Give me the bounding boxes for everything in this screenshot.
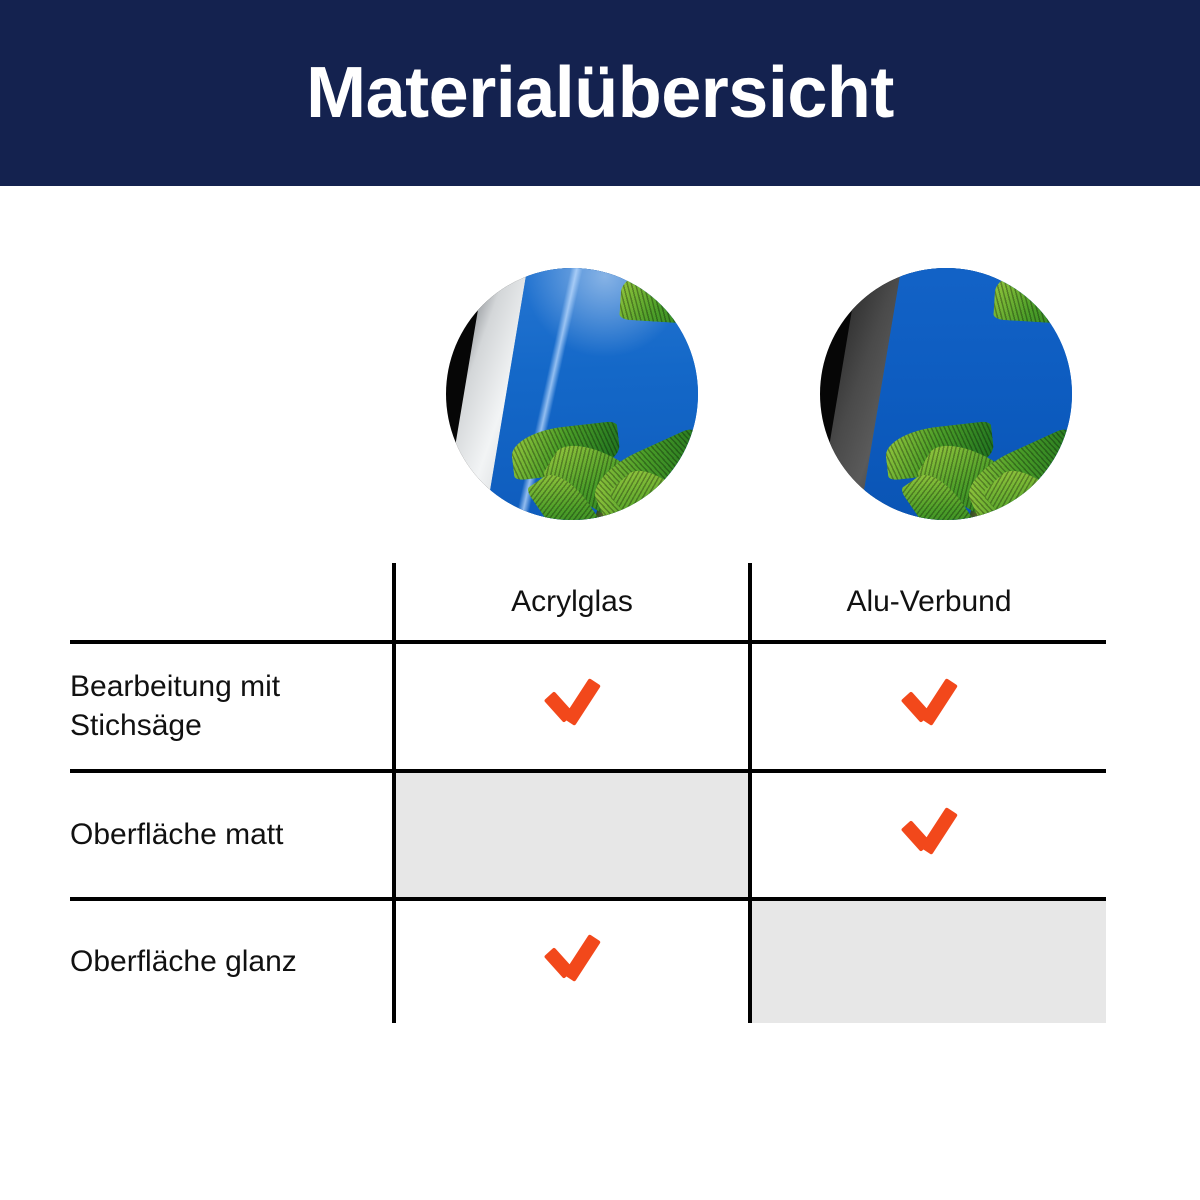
cell-matt-alu-verbund (750, 771, 1106, 899)
cell-bearbeitung-acrylglas (394, 642, 750, 771)
check-icon (901, 811, 957, 855)
acrylglas-product-image (446, 268, 698, 520)
column-header-acrylglas: Acrylglas (394, 563, 750, 642)
palm-frond-icon (619, 268, 698, 326)
row-label-oberflaeche-matt: Oberfläche matt (70, 771, 394, 899)
header-cell-blank (70, 563, 394, 642)
check-icon (901, 682, 957, 726)
cell-bearbeitung-alu-verbund (750, 642, 1106, 771)
material-comparison-table: Acrylglas Alu-Verbund Bearbeitung mit St… (70, 563, 1106, 1011)
row-label-line-1: Oberfläche matt (70, 816, 392, 854)
page-header: Materialübersicht (0, 0, 1200, 186)
thumbnail-row (0, 268, 1200, 524)
cell-glanz-acrylglas (394, 899, 750, 1023)
alu-verbund-product-image (820, 268, 1072, 520)
palm-frond-icon (993, 268, 1072, 326)
table-row: Oberfläche glanz (70, 899, 1106, 1023)
check-icon (544, 682, 600, 726)
row-label-line-2: Stichsäge (70, 707, 392, 745)
row-label-oberflaeche-glanz: Oberfläche glanz (70, 899, 394, 1023)
table-header-row: Acrylglas Alu-Verbund (70, 563, 1106, 642)
alu-verbund-thumbnail[interactable] (820, 268, 1072, 520)
table-row: Bearbeitung mit Stichsäge (70, 642, 1106, 771)
acrylglas-thumbnail[interactable] (446, 268, 698, 520)
row-label-line-1: Bearbeitung mit (70, 668, 392, 706)
no-check-placeholder (929, 965, 930, 966)
cell-glanz-alu-verbund (750, 899, 1106, 1023)
row-label-line-1: Oberfläche glanz (70, 943, 392, 981)
column-header-alu-verbund: Alu-Verbund (750, 563, 1106, 642)
page-title: Materialübersicht (306, 57, 894, 129)
table-row: Oberfläche matt (70, 771, 1106, 899)
row-label-bearbeitung-stichsaege: Bearbeitung mit Stichsäge (70, 642, 394, 771)
no-check-placeholder (572, 838, 573, 839)
cell-matt-acrylglas (394, 771, 750, 899)
check-icon (544, 938, 600, 982)
